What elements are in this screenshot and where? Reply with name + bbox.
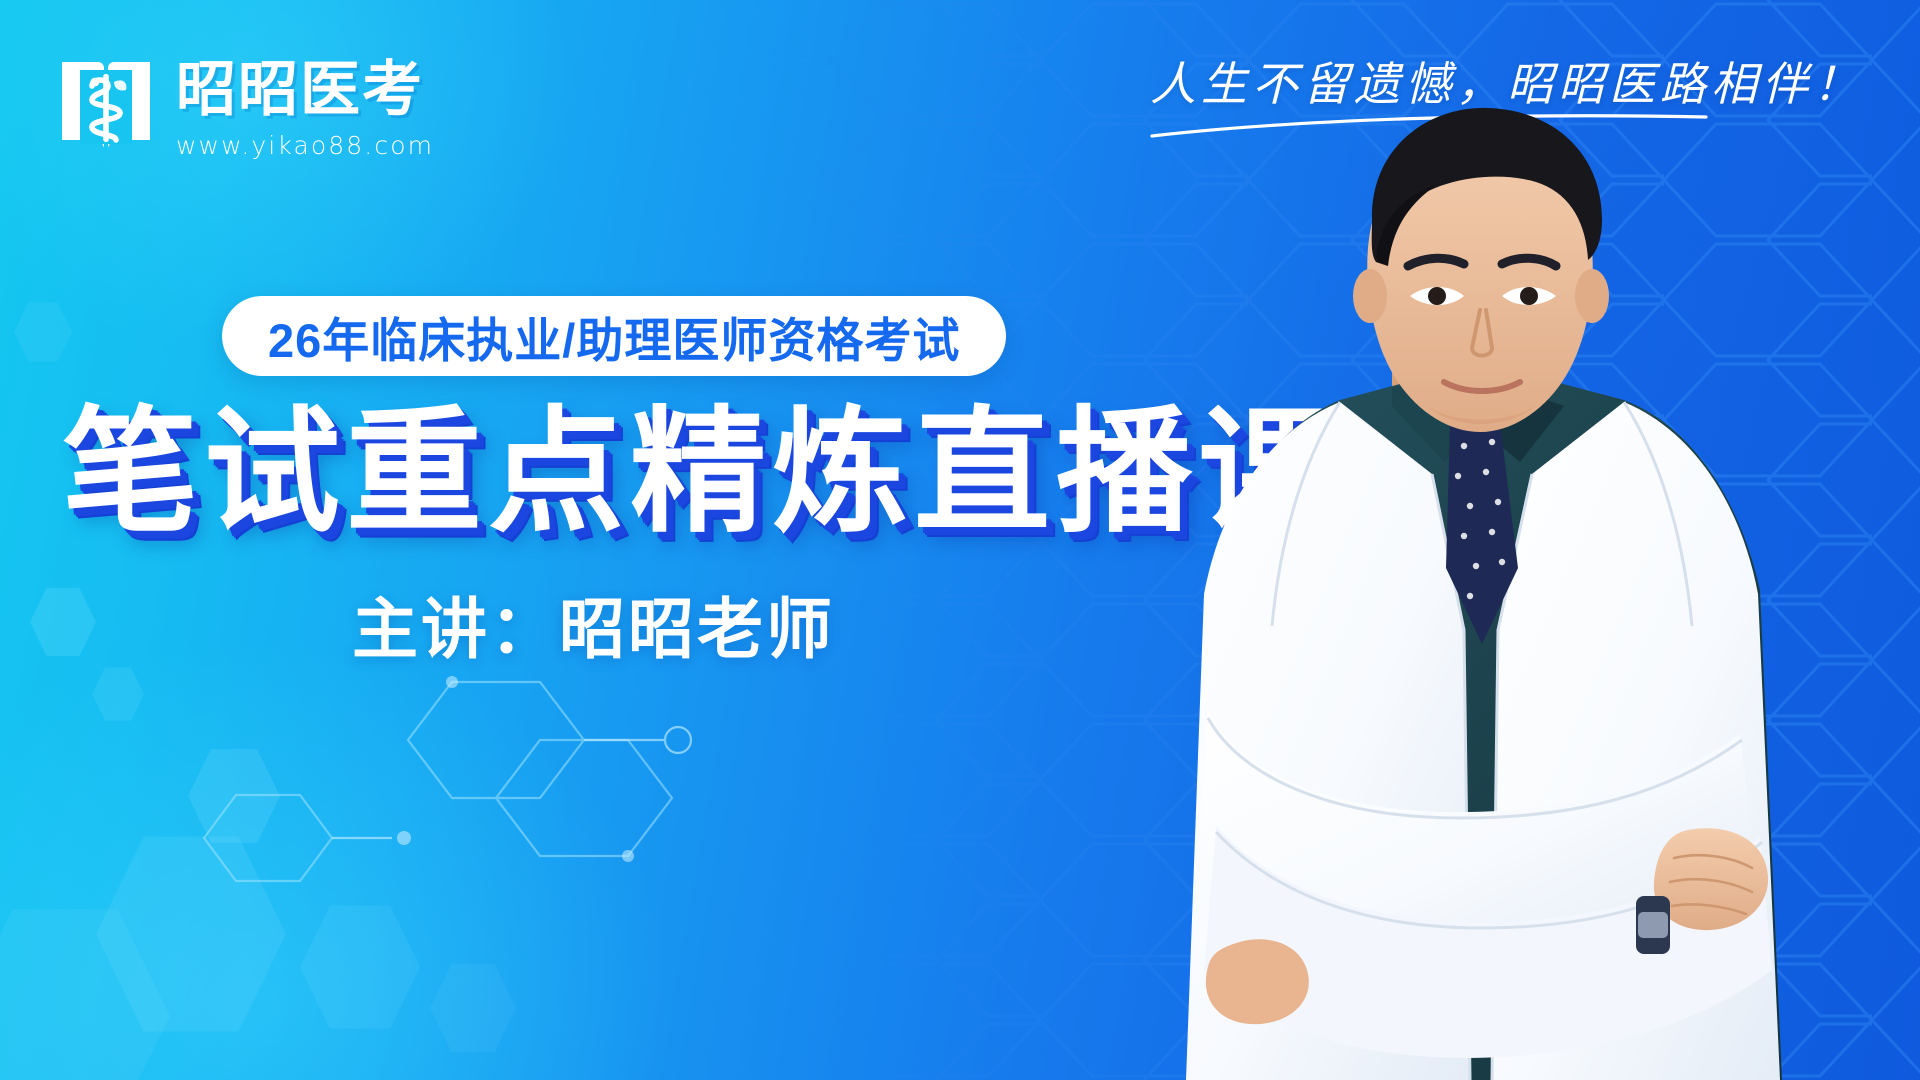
slogan-text: 人生不留遗憾，昭昭医路相伴！	[1150, 60, 1864, 111]
brand-slogan: 人生不留遗憾，昭昭医路相伴！	[1150, 60, 1864, 139]
brand-logo-text: 昭昭医考 www.yikao88.com	[176, 52, 434, 160]
brand-name: 昭昭医考	[176, 60, 434, 120]
hex-decoration	[96, 828, 286, 1040]
hex-decoration	[92, 665, 144, 723]
course-title: 笔试重点精炼直播课	[62, 396, 1340, 548]
course-subtitle-text: 26年临床执业/助理医师资格考试	[268, 302, 960, 371]
hex-decoration	[300, 900, 420, 1034]
promo-banner: 昭昭医考 www.yikao88.com 人生不留遗憾，昭昭医路相伴！ 26年临…	[0, 0, 1920, 1080]
presenter-line: 主讲：昭昭老师	[352, 576, 835, 672]
hex-decoration	[430, 960, 516, 1056]
swoosh-underline-icon	[1150, 113, 1710, 139]
hex-decoration	[14, 300, 72, 364]
hex-decoration	[0, 900, 170, 1080]
presenter-photo	[1040, 70, 1920, 1080]
course-subtitle-badge: 26年临床执业/助理医师资格考试	[222, 296, 1006, 376]
brand-url: www.yikao88.com	[176, 131, 434, 160]
hex-decoration	[188, 745, 280, 847]
hex-decoration	[30, 585, 96, 659]
book-caduceus-icon	[58, 52, 154, 156]
brand-logo[interactable]: 昭昭医考 www.yikao88.com	[58, 52, 434, 160]
